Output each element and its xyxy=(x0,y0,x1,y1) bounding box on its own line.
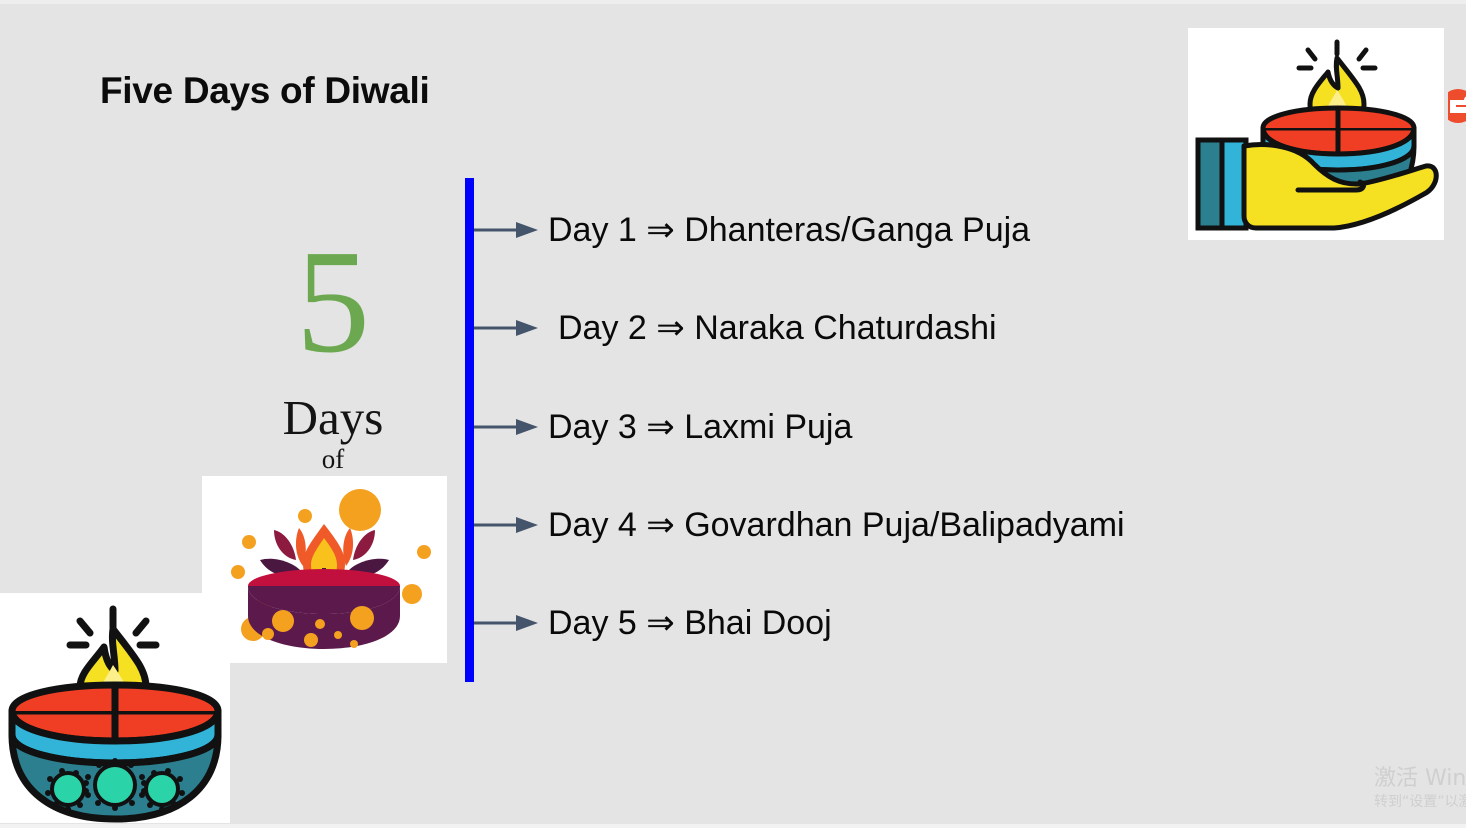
hand-holding-diya-image xyxy=(1188,28,1444,240)
page-title: Five Days of Diwali xyxy=(100,70,429,112)
day-row: Day 5 ⇒ Bhai Dooj xyxy=(474,600,832,646)
windows-activation-watermark: 激活 Windows 转到“设置”以激活 Windows。 xyxy=(1374,766,1466,812)
arrow-right-icon xyxy=(474,416,538,438)
day-row: Day 3 ⇒ Laxmi Puja xyxy=(474,404,852,450)
slide-canvas: Five Days of Diwali 5 Days of Day 1 ⇒ Dh… xyxy=(0,0,1466,828)
purple-diya-candle-icon xyxy=(202,476,447,663)
day-row: Day 1 ⇒ Dhanteras/Ganga Puja xyxy=(474,207,1030,253)
blue-vertical-spine xyxy=(465,178,474,682)
watermark-line-2: 转到“设置”以激活 Windows。 xyxy=(1374,792,1466,812)
day-label: Day 3 ⇒ Laxmi Puja xyxy=(538,407,852,447)
arrow-right-icon xyxy=(474,317,538,339)
day-label: Day 2 ⇒ Naraka Chaturdashi xyxy=(538,308,997,348)
of-label: of xyxy=(233,444,433,474)
purple-diya-image xyxy=(202,476,447,663)
day-label: Day 4 ⇒ Govardhan Puja/Balipadyami xyxy=(538,505,1125,545)
arrow-right-icon xyxy=(474,219,538,241)
blue-diya-image xyxy=(0,593,230,823)
blue-diya-lamp-icon xyxy=(0,593,230,823)
partial-orange-logo-icon xyxy=(1448,88,1466,124)
day-label: Day 1 ⇒ Dhanteras/Ganga Puja xyxy=(538,210,1030,250)
big-number-five: 5 xyxy=(233,228,433,376)
bottom-edge-divider xyxy=(0,824,1466,828)
hand-holding-diya-icon xyxy=(1188,28,1444,240)
watermark-line-1: 激活 Windows xyxy=(1374,766,1466,792)
arrow-right-icon xyxy=(474,514,538,536)
day-row: Day 4 ⇒ Govardhan Puja/Balipadyami xyxy=(474,502,1125,548)
day-row: Day 2 ⇒ Naraka Chaturdashi xyxy=(474,305,997,351)
days-label: Days xyxy=(233,392,433,444)
day-label: Day 5 ⇒ Bhai Dooj xyxy=(538,603,832,643)
arrow-right-icon xyxy=(474,612,538,634)
top-edge-divider xyxy=(0,0,1466,4)
